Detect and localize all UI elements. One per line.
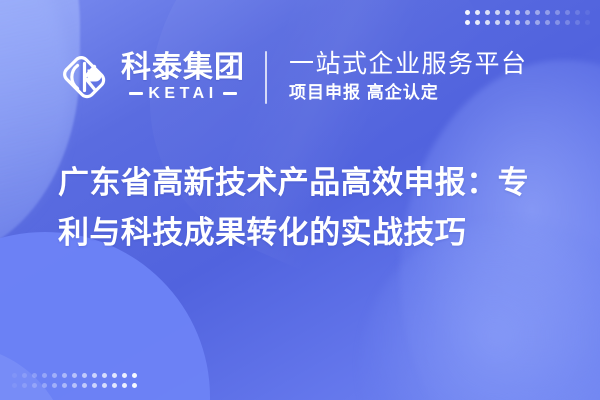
ketai-kp-diamond-logo-icon <box>56 49 112 105</box>
dot-grid-bottom-left <box>12 373 137 388</box>
dot <box>42 373 47 378</box>
dot <box>565 10 570 15</box>
dot <box>495 20 500 25</box>
dot <box>22 383 27 388</box>
dot <box>102 373 107 378</box>
dot <box>52 373 57 378</box>
dot <box>515 10 520 15</box>
dot-grid-top-right <box>465 10 590 25</box>
dot <box>32 373 37 378</box>
dot <box>112 383 117 388</box>
banner-title: 广东省高新技术产品高效申报：专利与科技成果转化的实战技巧 <box>58 158 550 258</box>
dot <box>92 373 97 378</box>
dot <box>525 20 530 25</box>
dot <box>122 383 127 388</box>
dot <box>465 10 470 15</box>
banner-header: 科泰集团 KETAI 一站式企业服务平台 项目申报 高企认定 <box>56 45 528 109</box>
tagline-primary: 一站式企业服务平台 <box>289 50 528 79</box>
dot <box>132 383 137 388</box>
dot-row <box>465 10 590 15</box>
dot <box>112 373 117 378</box>
dot <box>585 10 590 15</box>
dot <box>555 10 560 15</box>
dot <box>475 10 480 15</box>
dot-row <box>12 383 137 388</box>
dot <box>122 373 127 378</box>
dot <box>565 20 570 25</box>
tagline-secondary: 项目申报 高企认定 <box>289 83 528 103</box>
dot <box>505 20 510 25</box>
dot <box>545 10 550 15</box>
dot <box>515 20 520 25</box>
brand-name-en-wrap: KETAI <box>129 86 236 102</box>
dot <box>72 373 77 378</box>
dot <box>32 383 37 388</box>
dot-row <box>12 373 137 378</box>
dot <box>52 383 57 388</box>
brand-name-en: KETAI <box>148 86 217 102</box>
dot <box>92 383 97 388</box>
dot <box>132 373 137 378</box>
dot <box>62 383 67 388</box>
brand-name-cn: 科泰集团 <box>121 52 245 84</box>
dot <box>535 10 540 15</box>
dot <box>82 383 87 388</box>
dot <box>535 20 540 25</box>
dot <box>82 373 87 378</box>
dot <box>22 373 27 378</box>
dot <box>495 10 500 15</box>
brand-logo-text: 科泰集团 KETAI <box>121 52 245 102</box>
brand-tagline: 一站式企业服务平台 项目申报 高企认定 <box>289 50 528 103</box>
dot-row <box>465 20 590 25</box>
dot <box>505 10 510 15</box>
dot <box>465 20 470 25</box>
dot <box>62 373 67 378</box>
dot <box>545 20 550 25</box>
dot <box>555 20 560 25</box>
dot <box>575 20 580 25</box>
dot <box>12 373 17 378</box>
dot <box>485 10 490 15</box>
logo-dash-left-icon <box>129 92 143 95</box>
dot <box>525 10 530 15</box>
brand-logo[interactable]: 科泰集团 KETAI <box>56 46 245 108</box>
dot <box>485 20 490 25</box>
header-divider <box>265 51 267 104</box>
dot <box>102 383 107 388</box>
dot <box>72 383 77 388</box>
dot <box>42 383 47 388</box>
dot <box>575 10 580 15</box>
dot <box>12 383 17 388</box>
promo-banner: 科泰集团 KETAI 一站式企业服务平台 项目申报 高企认定 广东省高新技术产品… <box>0 0 600 400</box>
dot <box>585 20 590 25</box>
logo-dash-right-icon <box>223 92 237 95</box>
dot <box>475 20 480 25</box>
